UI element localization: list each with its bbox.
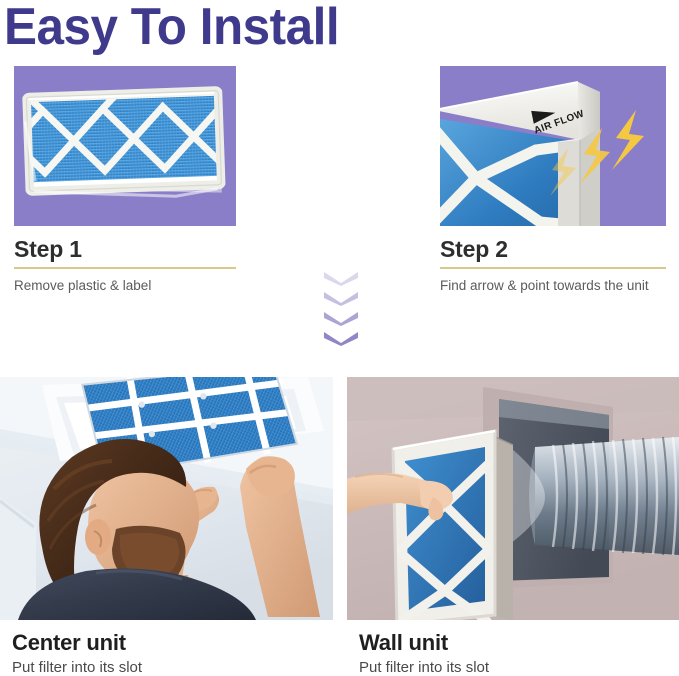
wall-unit-title: Wall unit: [359, 630, 679, 656]
chevron-down-icon-4: [324, 332, 358, 346]
center-unit-block: Center unit Put filter into its slot: [0, 377, 333, 676]
page-title: Easy To Install: [4, 0, 339, 56]
step-2-image: AIR FLOW: [440, 66, 666, 226]
step-1-label: Step 1: [14, 236, 236, 263]
center-unit-subtitle: Put filter into its slot: [12, 659, 333, 676]
step-2-divider: [440, 267, 666, 269]
step-2-label: Step 2: [440, 236, 666, 263]
wall-unit-subtitle: Put filter into its slot: [359, 659, 679, 676]
wall-unit-photo: [347, 377, 679, 620]
step-2-description: Find arrow & point towards the unit: [440, 276, 655, 295]
hand-installing-wall-duct-filter-illustration: [347, 377, 679, 620]
step-2-block: AIR FLOW Step 2 Find arrow & point towar…: [440, 66, 666, 295]
step-1-image: [14, 66, 236, 226]
center-unit-photo: [0, 377, 333, 620]
downward-chevron-stack: [324, 272, 360, 352]
chevron-down-icon-3: [324, 312, 358, 326]
step-1-divider: [14, 267, 236, 269]
wall-unit-block: Wall unit Put filter into its slot: [347, 377, 679, 676]
man-installing-ceiling-filter-illustration: [0, 377, 333, 620]
chevron-down-icon-2: [324, 292, 358, 306]
center-unit-title: Center unit: [12, 630, 333, 656]
step-1-block: Step 1 Remove plastic & label: [14, 66, 236, 295]
step-1-description: Remove plastic & label: [14, 276, 229, 295]
chevron-down-icon-1: [324, 272, 358, 286]
air-filter-corner-illustration: AIR FLOW: [440, 66, 666, 226]
air-filter-flat-illustration: [22, 85, 226, 204]
